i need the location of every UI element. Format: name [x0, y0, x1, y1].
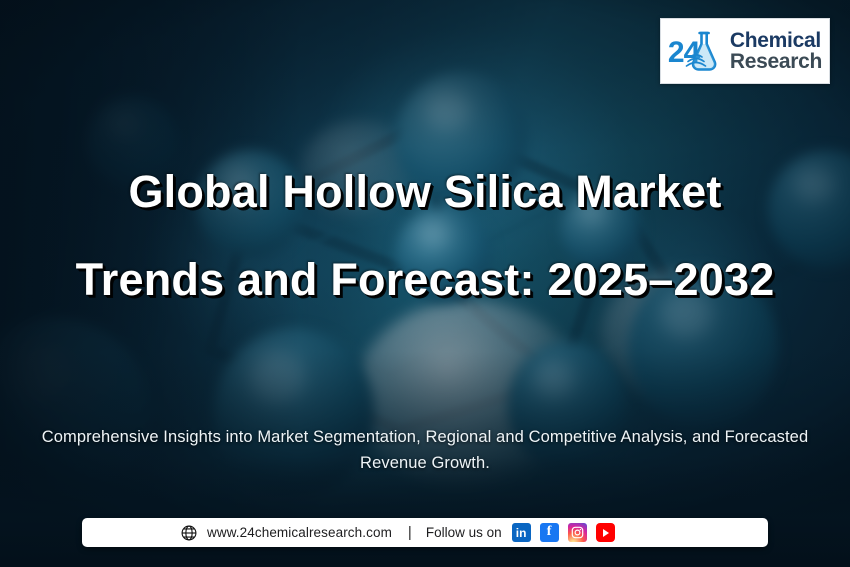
instagram-icon[interactable]	[568, 523, 587, 542]
company-logo[interactable]: 24 Chemical Research	[660, 18, 830, 84]
globe-icon	[180, 524, 198, 542]
logo-word-chemical: Chemical	[730, 30, 822, 51]
linkedin-glyph: in	[516, 527, 527, 539]
social-links: in f	[512, 523, 615, 542]
youtube-play-glyph	[603, 529, 609, 537]
website-url[interactable]: www.24chemicalresearch.com	[207, 525, 392, 540]
title-line-1: Global Hollow Silica Market	[0, 168, 850, 216]
footer-bar: www.24chemicalresearch.com | Follow us o…	[82, 518, 768, 547]
page-title: Global Hollow Silica Market Trends and F…	[0, 168, 850, 303]
flask-icon: 24	[668, 27, 730, 75]
instagram-glyph	[571, 526, 584, 539]
linkedin-icon[interactable]: in	[512, 523, 531, 542]
facebook-icon[interactable]: f	[540, 523, 559, 542]
footer-separator: |	[408, 524, 412, 541]
youtube-icon[interactable]	[596, 523, 615, 542]
facebook-glyph: f	[547, 525, 552, 539]
report-cover-poster: 24 Chemical Research	[0, 0, 850, 567]
logo-word-research: Research	[730, 51, 822, 72]
title-line-2: Trends and Forecast: 2025–2032	[0, 256, 850, 304]
follow-us-label: Follow us on	[426, 525, 502, 540]
subtitle-text: Comprehensive Insights into Market Segme…	[24, 425, 826, 476]
